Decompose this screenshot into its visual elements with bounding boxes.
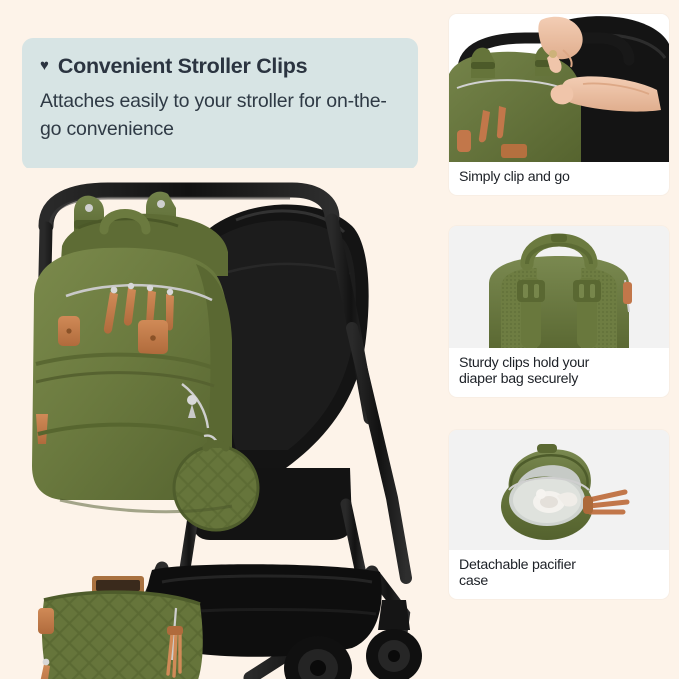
feature-card: Sturdy clips hold your diaper bag secure… (449, 226, 669, 397)
tassel (167, 626, 183, 676)
feature-card: Simply clip and go (449, 14, 669, 195)
callout-body: Attaches easily to your stroller for on-… (40, 88, 398, 143)
card-caption: Simply clip and go (449, 162, 669, 195)
card-caption: Detachable pacifier case (449, 550, 669, 599)
card-caption: Sturdy clips hold your diaper bag secure… (449, 348, 669, 397)
heart-icon: ♥ (40, 58, 49, 73)
clip-buckle-left (517, 280, 545, 302)
feature-card-list: Simply clip and go (449, 14, 669, 612)
callout-title: Convenient Stroller Clips (58, 54, 307, 79)
card-photo-sturdy-clips (449, 226, 669, 348)
hero-product-photo (0, 168, 448, 679)
feature-card: Detachable pacifier case (449, 430, 669, 599)
feature-callout: ♥ Convenient Stroller Clips Attaches eas… (22, 38, 418, 170)
card-photo-pacifier-case (449, 430, 669, 550)
infographic-page: ♥ Convenient Stroller Clips Attaches eas… (0, 0, 679, 679)
clip-buckle-right (573, 280, 601, 302)
callout-title-row: ♥ Convenient Stroller Clips (40, 54, 398, 79)
card-photo-clip-and-go (449, 14, 669, 162)
